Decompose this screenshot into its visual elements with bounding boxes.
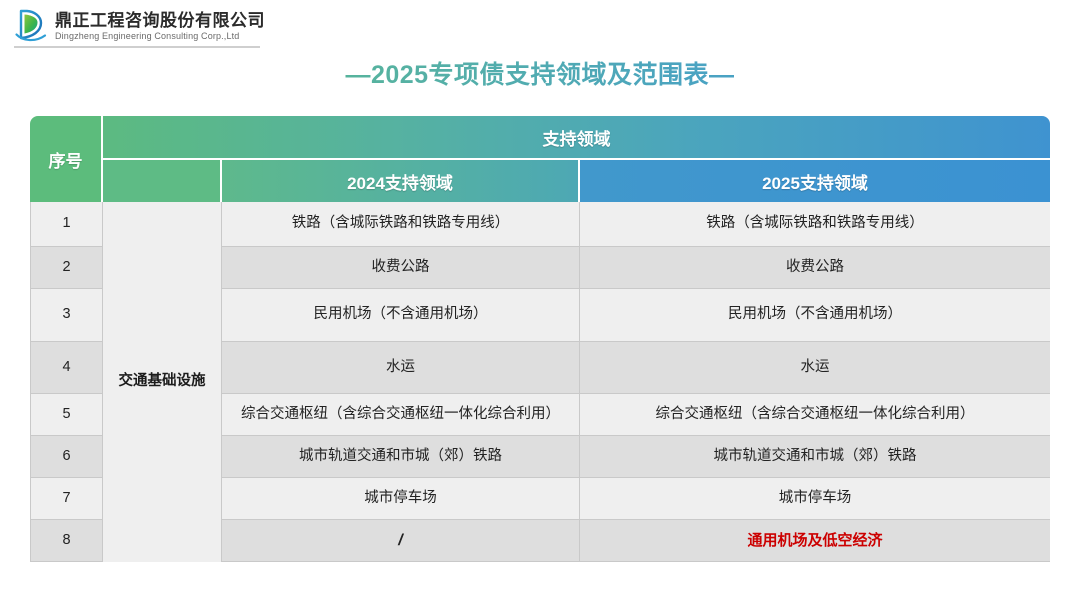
cell-seq: 4 bbox=[30, 342, 103, 394]
cell-2025: 城市轨道交通和市城（郊）铁路 bbox=[580, 436, 1050, 478]
brand-name-en: Dingzheng Engineering Consulting Corp.,L… bbox=[55, 32, 265, 41]
table-row: 1 交通基础设施 铁路（含城际铁路和铁路专用线） 铁路（含城际铁路和铁路专用线） bbox=[30, 202, 1050, 247]
header-group-support-scope: 支持领域 bbox=[103, 116, 1050, 160]
cell-seq: 7 bbox=[30, 478, 103, 520]
cell-seq: 2 bbox=[30, 247, 103, 289]
cell-2025: 铁路（含城际铁路和铁路专用线） bbox=[580, 202, 1050, 247]
cell-2024: 民用机场（不含通用机场） bbox=[222, 289, 580, 342]
cell-2024: 收费公路 bbox=[222, 247, 580, 289]
cell-seq: 1 bbox=[30, 202, 103, 247]
header-col-2025: 2025支持领域 bbox=[580, 160, 1050, 202]
brand-name-cn: 鼎正工程咨询股份有限公司 bbox=[55, 12, 265, 29]
cell-seq: 3 bbox=[30, 289, 103, 342]
cell-2025: 民用机场（不含通用机场） bbox=[580, 289, 1050, 342]
cell-2024: 综合交通枢纽（含综合交通枢纽一体化综合利用） bbox=[222, 394, 580, 436]
cell-2025: 综合交通枢纽（含综合交通枢纽一体化综合利用） bbox=[580, 394, 1050, 436]
cell-2025: 水运 bbox=[580, 342, 1050, 394]
cell-seq: 6 bbox=[30, 436, 103, 478]
dingzheng-d-leaf-logo-icon bbox=[14, 8, 48, 44]
page-title: —2025专项债支持领域及范围表— bbox=[0, 55, 1080, 91]
cell-2024: 城市停车场 bbox=[222, 478, 580, 520]
cell-category-label: 交通基础设施 bbox=[103, 202, 222, 562]
support-scope-table: 序号 支持领域 2024支持领域 2025支持领域 1 交通基础设施 铁路（含城… bbox=[30, 116, 1050, 562]
brand-divider bbox=[14, 46, 260, 48]
header-seq: 序号 bbox=[30, 116, 103, 202]
cell-2024: 铁路（含城际铁路和铁路专用线） bbox=[222, 202, 580, 247]
cell-2025-highlight: 通用机场及低空经济 bbox=[580, 520, 1050, 562]
cell-2024: 城市轨道交通和市城（郊）铁路 bbox=[222, 436, 580, 478]
cell-seq: 5 bbox=[30, 394, 103, 436]
table-body: 1 交通基础设施 铁路（含城际铁路和铁路专用线） 铁路（含城际铁路和铁路专用线）… bbox=[30, 202, 1050, 562]
cell-2024: / bbox=[222, 520, 580, 562]
header-col-2024: 2024支持领域 bbox=[222, 160, 580, 202]
table-head-row-1: 序号 支持领域 bbox=[30, 116, 1050, 160]
cell-2025: 城市停车场 bbox=[580, 478, 1050, 520]
brand-header: 鼎正工程咨询股份有限公司 Dingzheng Engineering Consu… bbox=[14, 6, 265, 46]
cell-seq: 8 bbox=[30, 520, 103, 562]
cell-2025: 收费公路 bbox=[580, 247, 1050, 289]
table-head-row-2: 2024支持领域 2025支持领域 bbox=[30, 160, 1050, 202]
brand-text-block: 鼎正工程咨询股份有限公司 Dingzheng Engineering Consu… bbox=[55, 12, 265, 41]
table-head: 序号 支持领域 2024支持领域 2025支持领域 bbox=[30, 116, 1050, 202]
support-scope-table-wrapper: 序号 支持领域 2024支持领域 2025支持领域 1 交通基础设施 铁路（含城… bbox=[30, 116, 1050, 562]
cell-2024: 水运 bbox=[222, 342, 580, 394]
header-category-blank bbox=[103, 160, 222, 202]
